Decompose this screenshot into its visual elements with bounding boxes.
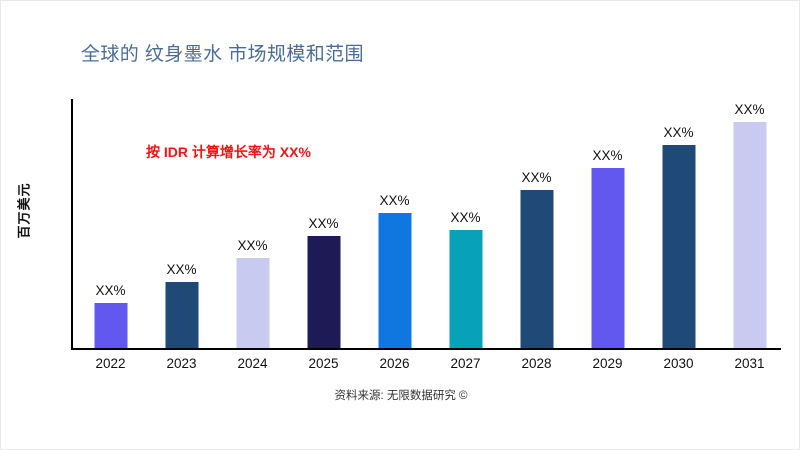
page-title: 全球的 纹身墨水 市场规模和范围 [81,39,364,66]
x-tick-2029: 2029 [572,356,643,371]
bar-2029 [591,168,624,348]
bar-2024 [236,258,269,348]
bar-slot: XX% [359,99,430,348]
bar-slot: XX% [75,99,146,348]
bar-value-label: XX% [308,216,338,231]
bar-2026 [378,213,411,348]
bar-slot: XX% [146,99,217,348]
x-tick-2027: 2027 [430,356,501,371]
bar-2025 [307,236,340,348]
plot-area: 按 IDR 计算增长率为 XX% XX% XX% XX% XX% XX% XX%… [71,99,781,349]
bar-slot: XX% [643,99,714,348]
bar-value-label: XX% [734,102,764,117]
bar-value-label: XX% [663,125,693,140]
bar-2027 [449,230,482,348]
bar-value-label: XX% [379,193,409,208]
x-tick-2031: 2031 [714,356,785,371]
source-note: 资料来源: 无限数据研究 © [1,387,800,403]
chart-page: 全球的 纹身墨水 市场规模和范围 百万美元 按 IDR 计算增长率为 XX% X… [0,0,800,450]
bar-slot: XX% [572,99,643,348]
bar-2022 [94,303,127,348]
x-tick-2030: 2030 [643,356,714,371]
bar-value-label: XX% [95,283,125,298]
y-axis-line [71,99,73,349]
bar-value-label: XX% [592,148,622,163]
bar-slot: XX% [430,99,501,348]
x-axis-line [71,348,781,350]
bar-slot: XX% [501,99,572,348]
bar-2023 [165,282,198,348]
bar-slot: XX% [217,99,288,348]
x-tick-2026: 2026 [359,356,430,371]
x-tick-2025: 2025 [288,356,359,371]
y-axis-label: 百万美元 [14,156,33,266]
x-tick-2023: 2023 [146,356,217,371]
bar-value-label: XX% [450,210,480,225]
x-tick-2024: 2024 [217,356,288,371]
bar-value-label: XX% [521,170,551,185]
bar-slot: XX% [714,99,785,348]
bar-2030 [662,145,695,348]
x-tick-2022: 2022 [75,356,146,371]
x-tick-2028: 2028 [501,356,572,371]
x-axis-tick-labels: 2022 2023 2024 2025 2026 2027 2028 2029 … [71,356,781,376]
bar-value-label: XX% [166,262,196,277]
bar-2028 [520,190,553,348]
bar-slot: XX% [288,99,359,348]
bar-value-label: XX% [237,238,267,253]
bar-2031 [733,122,766,348]
